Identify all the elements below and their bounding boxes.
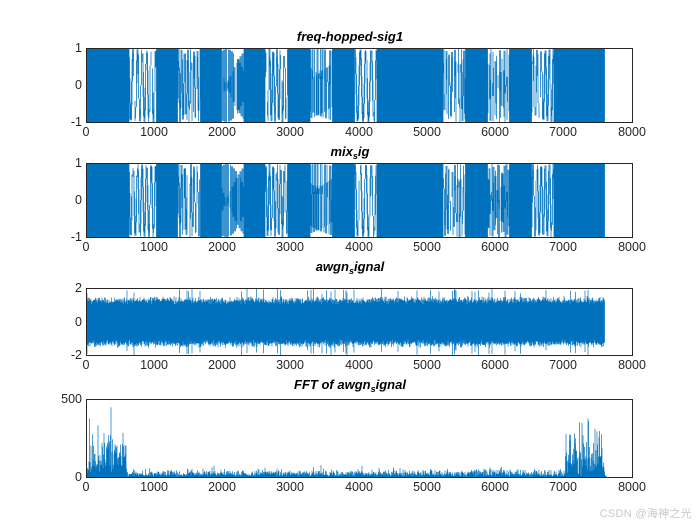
subplot-4-xtick-1: 1000 (124, 481, 184, 494)
subplot-4-spectrum-trace (87, 400, 632, 477)
subplot-4-axes (86, 399, 633, 478)
subplot-4-title: FFT of awgnsignal (0, 378, 700, 393)
subplot-4-xtick-5: 5000 (397, 481, 457, 494)
subplot-4-xtick-2: 2000 (192, 481, 252, 494)
subplot-4-xtick-8: 8000 (602, 481, 662, 494)
matlab-figure: freq-hopped-sig1 1 0 -1 0 1000 2000 3000… (0, 0, 700, 525)
subplot-4-xtick-6: 6000 (465, 481, 525, 494)
subplot-4-xtick-4: 4000 (329, 481, 389, 494)
subplot-4-xtick-7: 7000 (533, 481, 593, 494)
subplot-4-xtick-3: 3000 (260, 481, 320, 494)
csdn-watermark: CSDN @海神之光 (600, 505, 692, 521)
subplot-4-xtick-0: 0 (56, 481, 116, 494)
subplot-4: FFT of awgnsignal 500 0 0 1000 2000 3000… (0, 0, 700, 500)
